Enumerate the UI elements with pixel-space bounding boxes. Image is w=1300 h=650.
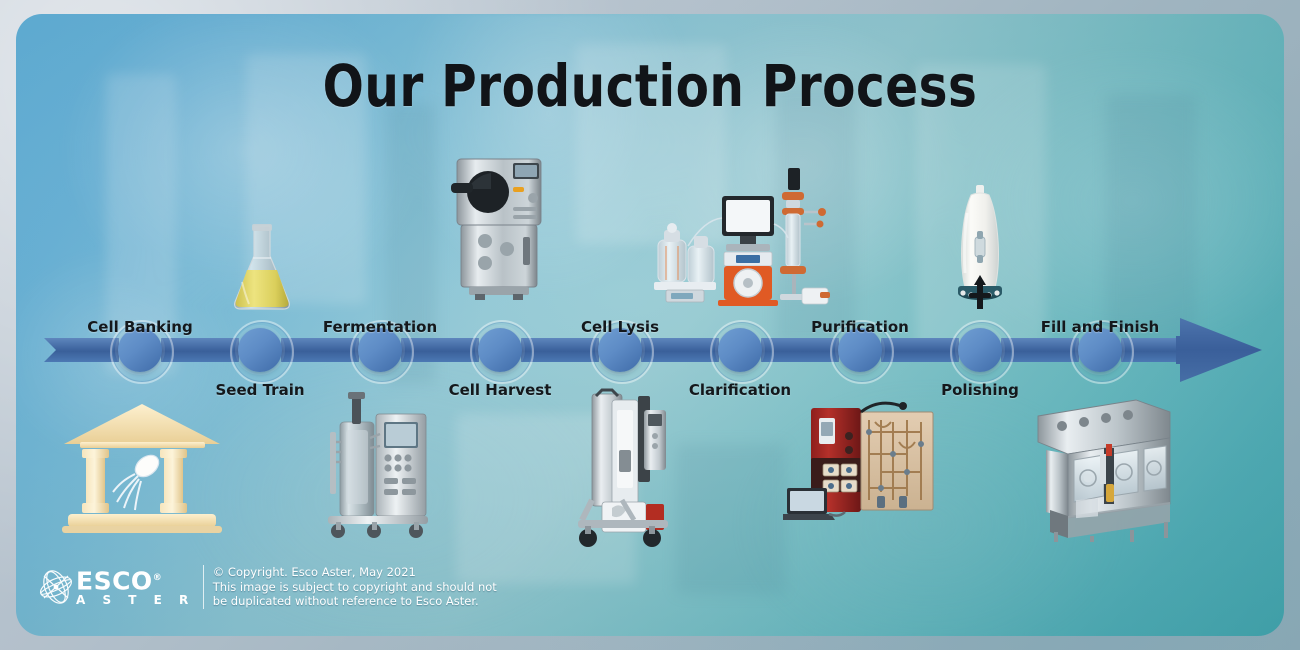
isolator-filling-line-icon: [1032, 392, 1174, 542]
timeline-label-purification: Purification: [811, 318, 909, 336]
registered-trademark-icon: ®: [153, 573, 163, 583]
copyright-line-2: This image is subject to copyright and s…: [213, 580, 497, 595]
page-title: Our Production Process: [46, 52, 1255, 120]
timeline-node-polishing[interactable]: [958, 328, 1002, 372]
infographic-root: Our Production Process: [0, 0, 1300, 650]
single-use-bag-icon: [933, 183, 1027, 311]
homogenizer-icon: [572, 388, 676, 548]
timeline-label-fill-and-finish: Fill and Finish: [1041, 318, 1159, 336]
timeline-label-clarification: Clarification: [689, 381, 791, 399]
timeline-label-polishing: Polishing: [941, 381, 1019, 399]
bank-with-cell-icon: [60, 400, 225, 540]
timeline-label-cell-lysis: Cell Lysis: [581, 318, 659, 336]
centrifuge-icon: [443, 153, 551, 301]
bioreactor-icon: [318, 388, 436, 540]
erlenmeyer-flask-icon: [227, 222, 297, 314]
copyright-notice: © Copyright. Esco Aster, May 2021 This i…: [213, 565, 497, 609]
timeline-node-cell-harvest[interactable]: [478, 328, 522, 372]
chromatography-skid-icon: [783, 392, 945, 528]
copyright-line-1: © Copyright. Esco Aster, May 2021: [213, 565, 497, 580]
copyright-line-3: be duplicated without reference to Esco …: [213, 594, 497, 609]
branding-block: ESCO® A S T E R © Copyright. Esco Aster,…: [38, 565, 497, 609]
logo-divider: [203, 565, 204, 609]
logo-wordmark: ESCO® A S T E R: [76, 566, 195, 608]
timeline-node-seed-train[interactable]: [238, 328, 282, 372]
timeline-node-clarification[interactable]: [718, 328, 762, 372]
timeline-label-cell-harvest: Cell Harvest: [449, 381, 552, 399]
filtration-skid-icon: [652, 168, 830, 310]
timeline-label-cell-banking: Cell Banking: [87, 318, 192, 336]
timeline-label-fermentation: Fermentation: [323, 318, 437, 336]
esco-swirl-logo-icon: [38, 567, 74, 607]
timeline-label-seed-train: Seed Train: [215, 381, 304, 399]
logo-secondary-text: A S T E R: [76, 593, 195, 608]
logo-primary-text: ESCO: [76, 566, 153, 595]
